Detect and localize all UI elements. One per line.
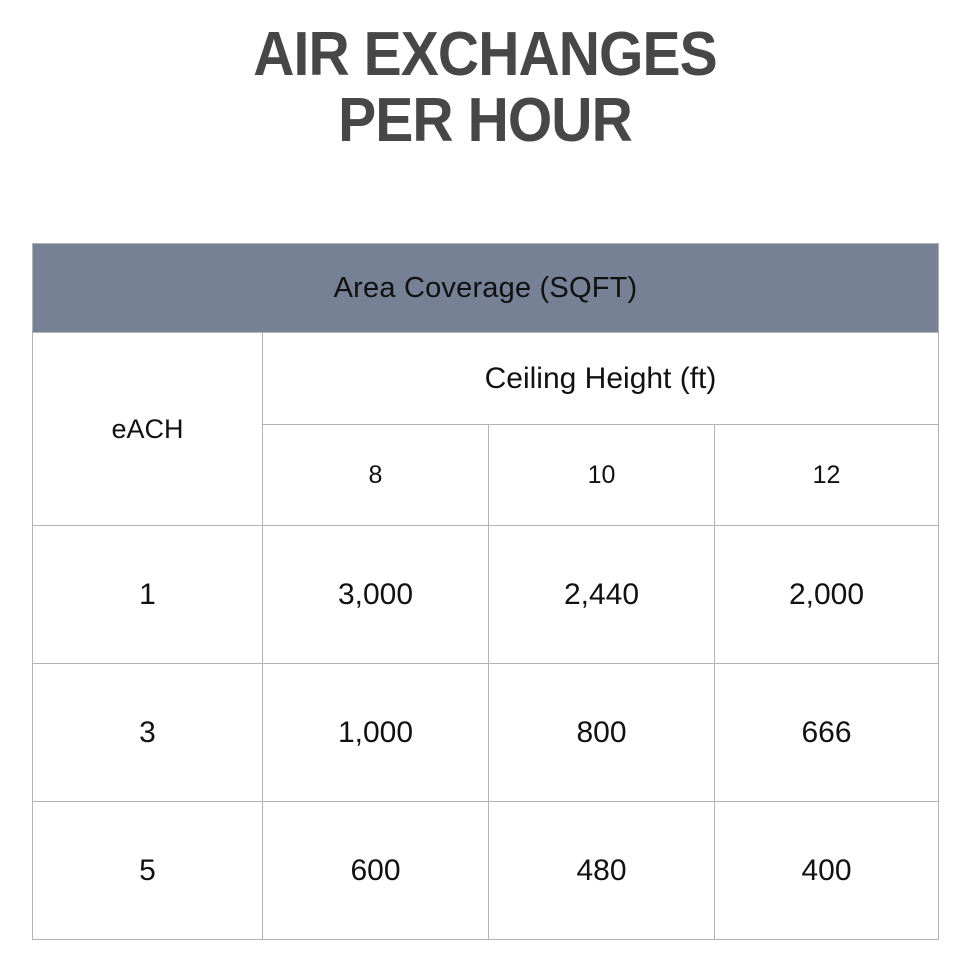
table-group-header-row: eACH Ceiling Height (ft) (33, 333, 939, 425)
table-body: 1 3,000 2,440 2,000 3 1,000 800 666 5 60… (33, 526, 939, 940)
column-header-12: 12 (715, 425, 939, 526)
table-banner-title: Area Coverage (SQFT) (33, 244, 939, 333)
row-header-label-each: eACH (33, 333, 263, 526)
cell-each5-height12: 400 (715, 802, 939, 940)
area-coverage-table-wrapper: Area Coverage (SQFT) eACH Ceiling Height… (32, 243, 938, 940)
area-coverage-table: Area Coverage (SQFT) eACH Ceiling Height… (32, 243, 939, 940)
cell-each3-height8: 1,000 (263, 664, 489, 802)
infographic-page: AIR EXCHANGES PER HOUR Area Coverage (SQ… (0, 0, 970, 971)
row-label-each-3: 3 (33, 664, 263, 802)
page-title-line-2: PER HOUR (39, 88, 931, 154)
page-title-line-1: AIR EXCHANGES (39, 22, 931, 88)
column-group-header-ceiling-height: Ceiling Height (ft) (263, 333, 939, 425)
cell-each5-height10: 480 (489, 802, 715, 940)
table-row: 1 3,000 2,440 2,000 (33, 526, 939, 664)
table-row: 5 600 480 400 (33, 802, 939, 940)
cell-each1-height10: 2,440 (489, 526, 715, 664)
cell-each1-height12: 2,000 (715, 526, 939, 664)
table-row: 3 1,000 800 666 (33, 664, 939, 802)
row-label-each-1: 1 (33, 526, 263, 664)
cell-each5-height8: 600 (263, 802, 489, 940)
column-header-8: 8 (263, 425, 489, 526)
table-banner-row: Area Coverage (SQFT) (33, 244, 939, 333)
table-head: Area Coverage (SQFT) eACH Ceiling Height… (33, 244, 939, 526)
cell-each3-height10: 800 (489, 664, 715, 802)
cell-each1-height8: 3,000 (263, 526, 489, 664)
page-title: AIR EXCHANGES PER HOUR (0, 22, 970, 154)
cell-each3-height12: 666 (715, 664, 939, 802)
row-label-each-5: 5 (33, 802, 263, 940)
column-header-10: 10 (489, 425, 715, 526)
